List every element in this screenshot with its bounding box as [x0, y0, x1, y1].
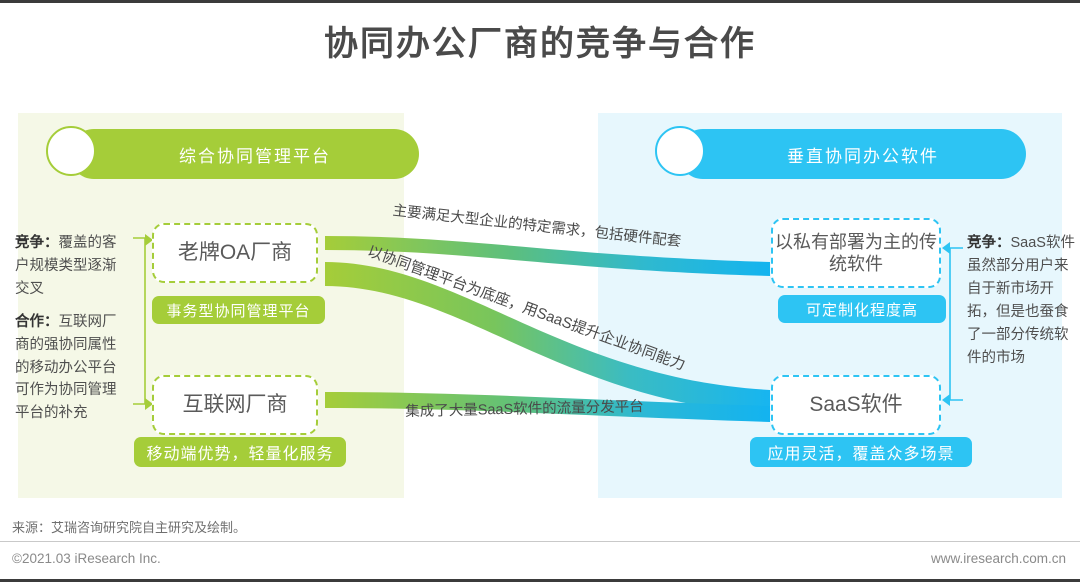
note-right-competition-label: 竞争： [967, 235, 1011, 251]
tag-legacy-oa: 事务型协同管理平台 [152, 296, 325, 324]
tag-traditional-software: 可定制化程度高 [778, 295, 946, 323]
page-title: 协同办公厂商的竞争与合作 [0, 16, 1080, 65]
top-divider [0, 0, 1080, 3]
note-left-competition-label: 竞争： [15, 235, 59, 251]
pill-knob-right-icon [655, 126, 705, 176]
note-right-competition: 竞争：SaaS软件虽然部分用户来自于新市场开拓，但是也蚕食了一部分传统软件的市场 [967, 232, 1075, 369]
entity-box-internet-vendor: 互联网厂商 [152, 375, 318, 435]
source-note: 来源：艾瑞咨询研究院自主研究及绘制。 [12, 517, 246, 536]
slide-canvas: 协同办公厂商的竞争与合作 [0, 0, 1080, 582]
note-left-panel: 竞争：覆盖的客户规模类型逐渐交叉 合作：互联网厂商的强协同属性的移动办公平台可作… [15, 232, 127, 425]
copyright-text: ©2021.03 iResearch Inc. [12, 551, 161, 566]
note-left-cooperation-label: 合作： [15, 314, 59, 330]
tag-internet-vendor: 移动端优势，轻量化服务 [134, 437, 346, 467]
entity-box-saas-software: SaaS软件 [771, 375, 941, 435]
entity-box-traditional-software: 以私有部署为主的传统软件 [771, 218, 941, 288]
tag-saas-software: 应用灵活，覆盖众多场景 [750, 437, 972, 467]
entity-box-legacy-oa: 老牌OA厂商 [152, 223, 318, 283]
panel-right-header-label: 垂直协同办公软件 [678, 142, 1026, 167]
note-left-competition: 竞争：覆盖的客户规模类型逐渐交叉 [15, 232, 127, 301]
panel-left-header-pill: 综合协同管理平台 [69, 129, 419, 179]
pill-knob-left-icon [46, 126, 96, 176]
panel-left-header-label: 综合协同管理平台 [69, 142, 419, 167]
note-left-cooperation: 合作：互联网厂商的强协同属性的移动办公平台可作为协同管理平台的补充 [15, 311, 127, 426]
note-right-panel: 竞争：SaaS软件虽然部分用户来自于新市场开拓，但是也蚕食了一部分传统软件的市场 [967, 232, 1075, 369]
footer-divider [0, 541, 1080, 542]
panel-right-header-pill: 垂直协同办公软件 [678, 129, 1026, 179]
footer-url: www.iresearch.com.cn [931, 551, 1066, 566]
note-right-competition-text: SaaS软件虽然部分用户来自于新市场开拓，但是也蚕食了一部分传统软件的市场 [967, 235, 1075, 366]
